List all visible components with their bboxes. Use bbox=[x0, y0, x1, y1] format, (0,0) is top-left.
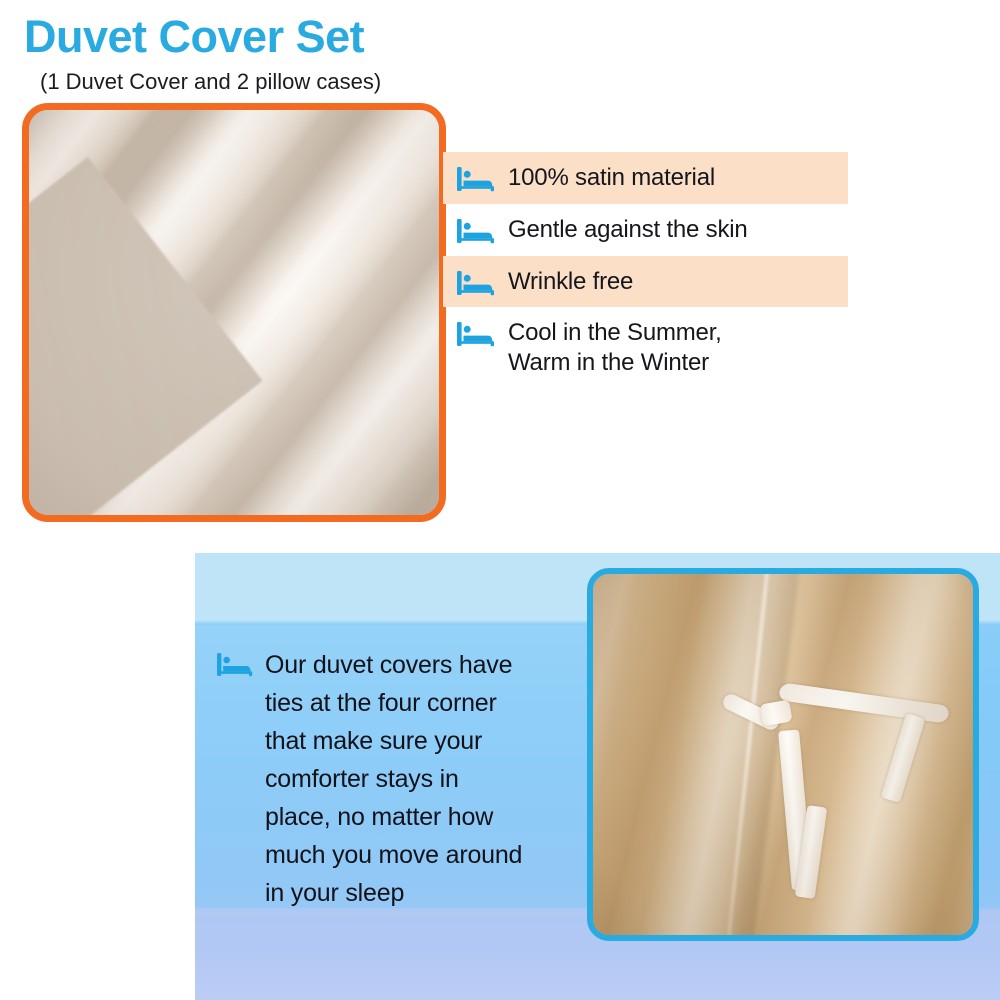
feature-label: 100% satin material bbox=[508, 163, 715, 193]
bed-icon bbox=[457, 218, 497, 244]
tie-fabric-vignette bbox=[593, 574, 973, 935]
page-title: Duvet Cover Set bbox=[24, 14, 474, 59]
bed-icon bbox=[457, 270, 497, 296]
duvet-ties-section: Our duvet covers have ties at the four c… bbox=[195, 553, 1000, 1000]
feature-label: Wrinkle free bbox=[508, 267, 633, 297]
satin-fabric-vignette bbox=[29, 110, 439, 515]
bed-icon bbox=[457, 166, 497, 192]
feature-item-wrinkle-free: Wrinkle free bbox=[443, 256, 848, 308]
feature-item-temperature: Cool in the Summer, Warm in the Winter bbox=[443, 307, 848, 389]
tie-feature-item: Our duvet covers have ties at the four c… bbox=[217, 646, 592, 912]
feature-label: Cool in the Summer, Warm in the Winter bbox=[508, 318, 722, 378]
bed-icon bbox=[217, 652, 255, 677]
tie-feature-label: Our duvet covers have ties at the four c… bbox=[265, 646, 522, 912]
satin-fabric-photo bbox=[22, 103, 446, 522]
duvet-tie-photo bbox=[587, 568, 979, 941]
feature-list: 100% satin material Gentle against the s… bbox=[443, 152, 848, 389]
feature-item-gentle-skin: Gentle against the skin bbox=[443, 204, 848, 256]
bed-icon bbox=[457, 321, 497, 347]
feature-item-satin-material: 100% satin material bbox=[443, 152, 848, 204]
page-subtitle: (1 Duvet Cover and 2 pillow cases) bbox=[40, 70, 470, 94]
feature-label: Gentle against the skin bbox=[508, 215, 748, 245]
